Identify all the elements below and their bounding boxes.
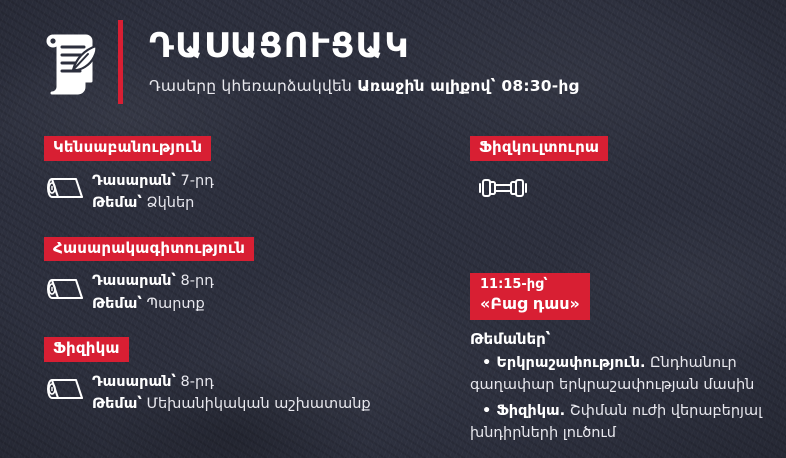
theme-value: Պարտք [142,296,205,312]
poster-header: ԴԱՍԱՑՈՒՑԱԿ Դասերը կհեռարձակվեն Առաջին ալ… [0,14,786,110]
grade-value: 7-րդ [176,173,214,189]
page-title: ԴԱՍԱՑՈՒՑԱԿ [149,29,579,65]
scroll-quill-icon [34,26,108,98]
theme-line: Թեմա՝ Մեխանիկական աշխատանք [92,393,371,415]
subject-block-physical-education: Ֆիզկուլտուրա [470,136,770,205]
header-text-group: ԴԱՍԱՑՈՒՑԱԿ Դասերը կհեռարձակվեն Առաջին ալ… [149,29,579,95]
theme-line: Թեմա՝ Ձկներ [92,192,214,214]
theme-list-item: • Երկրաշափություն. Ընդհանուր գաղափար երկ… [470,352,770,396]
open-lesson-time: 11:15-ից՝ [480,277,580,293]
subject-block-physics: Ֆիզիկա Դասարան՝ 8-րդ [44,337,444,416]
open-book-icon [46,376,92,410]
theme-label: Թեմա՝ [92,296,142,312]
header-divider [118,20,123,104]
subtitle-bold: Առաջին ալիքով՝ 08:30-ից [357,77,579,95]
theme-subject: Երկրաշափություն. [491,355,645,371]
subtitle-normal: Դասերը կհեռարձակվեն [149,77,357,95]
grade-label: Դասարան՝ [92,273,176,289]
bullet-marker: • [482,403,491,419]
grade-label: Դասարան՝ [92,173,176,189]
bullet-marker: • [482,355,491,371]
subject-name-tag: Կենսաբանություն [44,136,211,161]
grade-line: Դասարան՝ 8-րդ [92,371,371,393]
theme-value: Մեխանիկական աշխատանք [142,396,371,412]
open-book-icon [46,175,92,209]
dumbbell-icon [474,175,770,205]
subject-details: Դասարան՝ 7-րդ Թեմա՝ Ձկներ [92,170,214,215]
grade-line: Դասարան՝ 8-րդ [92,270,214,292]
schedule-poster: ԴԱՍԱՑՈՒՑԱԿ Դասերը կհեռարձակվեն Առաջին ալ… [0,0,786,458]
theme-list-item: • Ֆիզիկա. Շփման ուժի վերաբերյալ խնդիրներ… [470,400,770,444]
right-column: Ֆիզկուլտուրա [470,136,770,444]
open-lesson-tag: 11:15-ից՝ «Բաց դաս» [470,273,590,320]
subject-details: Դասարան՝ 8-րդ Թեմա՝ Պարտք [92,270,214,315]
subject-block-social-studies: Հասարակագիտություն Դասարան՝ 8- [44,237,444,316]
theme-line: Թեմա՝ Պարտք [92,293,214,315]
grade-line: Դասարան՝ 7-րդ [92,170,214,192]
left-column: Կենսաբանություն Դասարան՝ 7-րդ [44,136,444,438]
subject-details: Դասարան՝ 8-րդ Թեմա՝ Մեխանիկական աշխատանք [92,371,371,416]
theme-subject: Ֆիզիկա. [491,403,565,419]
header-subtitle: Դասերը կհեռարձակվեն Առաջին ալիքով՝ 08:30… [149,77,579,95]
grade-value: 8-րդ [176,374,214,390]
subject-name-tag: Հասարակագիտություն [44,237,254,262]
subject-name-tag: Ֆիզիկա [44,337,129,362]
subject-block-biology: Կենսաբանություն Դասարան՝ 7-րդ [44,136,444,215]
themes-label: Թեմաներ՝ [470,330,770,348]
grade-value: 8-րդ [176,273,214,289]
grade-label: Դասարան՝ [92,374,176,390]
theme-value: Ձկներ [142,195,194,211]
theme-label: Թեմա՝ [92,195,142,211]
open-lesson-block: 11:15-ից՝ «Բաց դաս» Թեմաներ՝ • Երկրաշափո… [470,273,770,444]
open-book-icon [46,276,92,310]
theme-label: Թեմա՝ [92,396,142,412]
subject-name-tag: Ֆիզկուլտուրա [470,136,608,161]
open-lesson-name: «Բաց դաս» [480,294,580,314]
